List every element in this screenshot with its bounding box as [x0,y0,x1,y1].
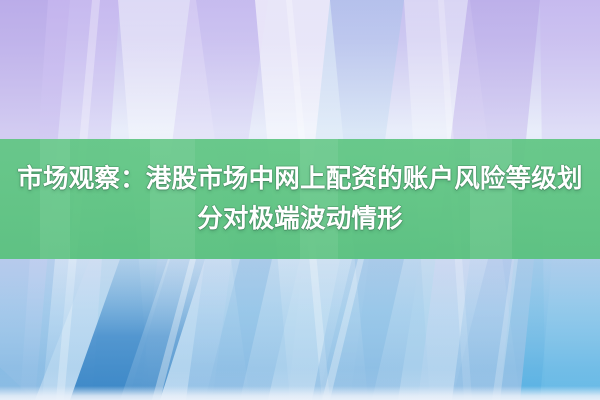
banner-title-line-2: 分对极端波动情形 [197,199,403,239]
article-banner: 市场观察：港股市场中网上配资的账户风险等级划 分对极端波动情形 [0,0,600,400]
banner-title-line-1: 市场观察：港股市场中网上配资的账户风险等级划 [17,159,582,199]
watermark-text [282,385,322,397]
banner-title-block: 市场观察：港股市场中网上配资的账户风险等级划 分对极端波动情形 [0,139,600,259]
